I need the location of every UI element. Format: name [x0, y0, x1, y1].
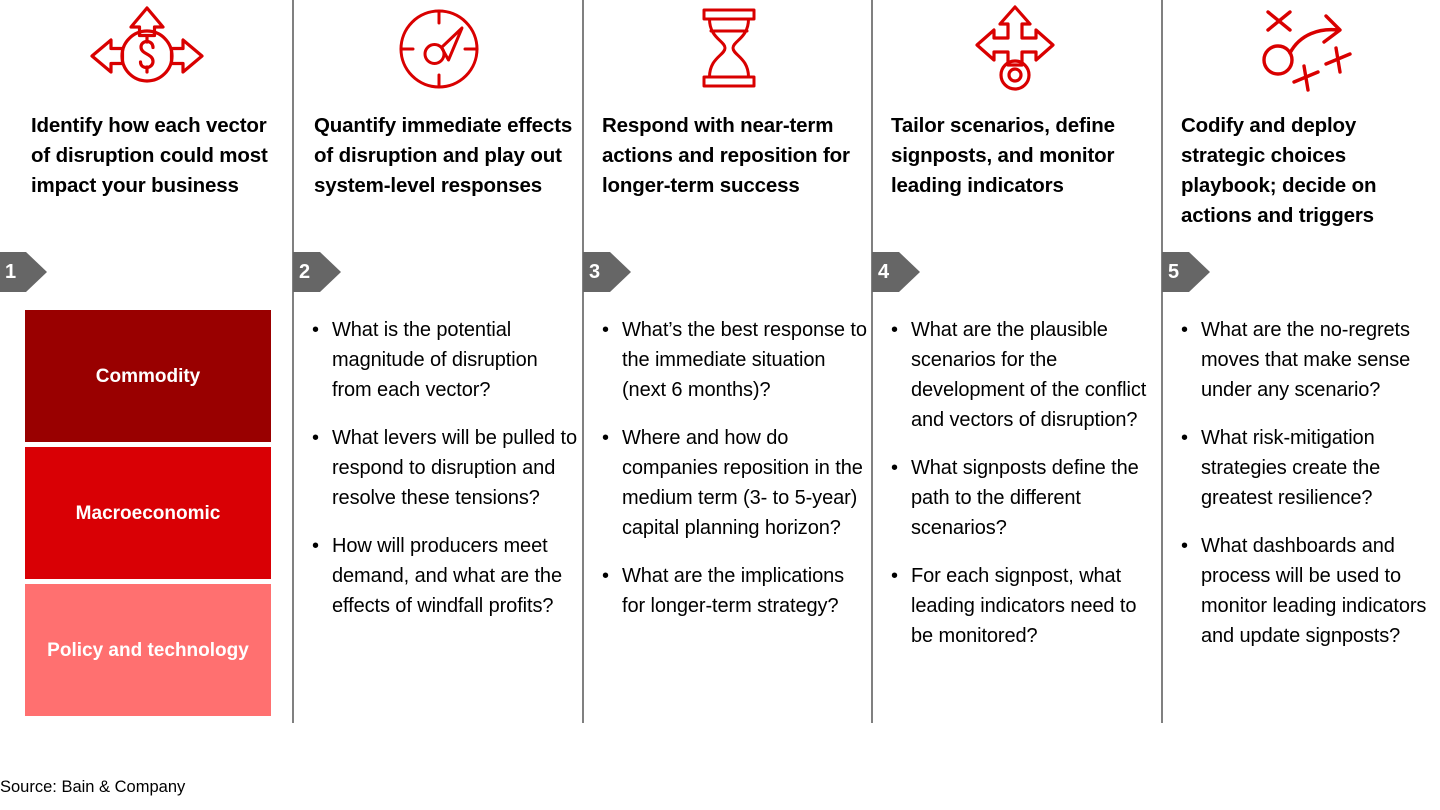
list-item: What risk-mitigation strategies create t…	[1178, 423, 1440, 513]
step-columns: Identify how each vector of disruption c…	[0, 0, 1440, 740]
step-marker-5: 5	[1162, 252, 1210, 292]
list-item: How will producers meet demand, and what…	[309, 531, 581, 621]
step-marker-2: 2	[293, 252, 341, 292]
step-marker-3: 3	[583, 252, 631, 292]
step-column-1: Identify how each vector of disruption c…	[0, 0, 294, 740]
step-heading: Codify and deploy strategic choices play…	[1181, 111, 1433, 231]
question-list: What are the plausible scenarios for the…	[888, 315, 1158, 651]
step-marker-4: 4	[872, 252, 920, 292]
step-column-2: Quantify immediate effects of disruption…	[294, 0, 584, 740]
step-heading: Quantify immediate effects of disruption…	[314, 111, 582, 201]
list-item: What levers will be pulled to respond to…	[309, 423, 581, 513]
question-list: What is the potential magnitude of disru…	[309, 315, 581, 621]
step-heading: Respond with near-term actions and repos…	[602, 111, 864, 201]
list-item: For each signpost, what leading indicato…	[888, 561, 1158, 651]
three-way-arrows-icon	[873, 2, 1163, 94]
vector-box-commodity[interactable]: Commodity	[25, 310, 271, 442]
question-list: What’s the best response to the immediat…	[599, 315, 867, 621]
step-column-3: Respond with near-term actions and repos…	[584, 0, 873, 740]
hourglass-icon	[584, 2, 873, 94]
step-heading: Tailor scenarios, define signposts, and …	[891, 111, 1153, 201]
list-item: Where and how do companies reposition in…	[599, 423, 867, 543]
list-item: What are the no-regrets moves that make …	[1178, 315, 1440, 405]
list-item: What are the implications for longer-ter…	[599, 561, 867, 621]
step-column-4: Tailor scenarios, define signposts, and …	[873, 0, 1163, 740]
list-item: What signposts define the path to the di…	[888, 453, 1158, 543]
step-number: 1	[5, 252, 27, 292]
vector-box-label: Commodity	[96, 364, 201, 389]
vector-box-label: Macroeconomic	[76, 501, 221, 526]
list-item: What’s the best response to the immediat…	[599, 315, 867, 405]
step-number: 5	[1168, 252, 1190, 292]
list-item: What is the potential magnitude of disru…	[309, 315, 581, 405]
vector-box-list: Commodity Macroeconomic Policy and techn…	[25, 310, 271, 716]
vector-box-label: Policy and technology	[47, 638, 249, 663]
list-item: What dashboards and process will be used…	[1178, 531, 1440, 651]
step-marker-1: 1	[0, 252, 47, 292]
step-number: 3	[589, 252, 611, 292]
step-number: 2	[299, 252, 321, 292]
gauge-icon	[294, 2, 584, 94]
list-item: What are the plausible scenarios for the…	[888, 315, 1158, 435]
step-heading: Identify how each vector of disruption c…	[31, 111, 279, 201]
vector-box-policy-technology[interactable]: Policy and technology	[25, 584, 271, 716]
source-note: Source: Bain & Company	[0, 776, 185, 798]
vector-box-macroeconomic[interactable]: Macroeconomic	[25, 447, 271, 579]
infographic-root: Identify how each vector of disruption c…	[0, 0, 1440, 810]
dollar-arrows-icon	[0, 2, 304, 94]
question-list: What are the no-regrets moves that make …	[1178, 315, 1440, 651]
step-number: 4	[878, 252, 900, 292]
strategy-playbook-icon	[1163, 2, 1440, 94]
step-column-5: Codify and deploy strategic choices play…	[1163, 0, 1440, 740]
